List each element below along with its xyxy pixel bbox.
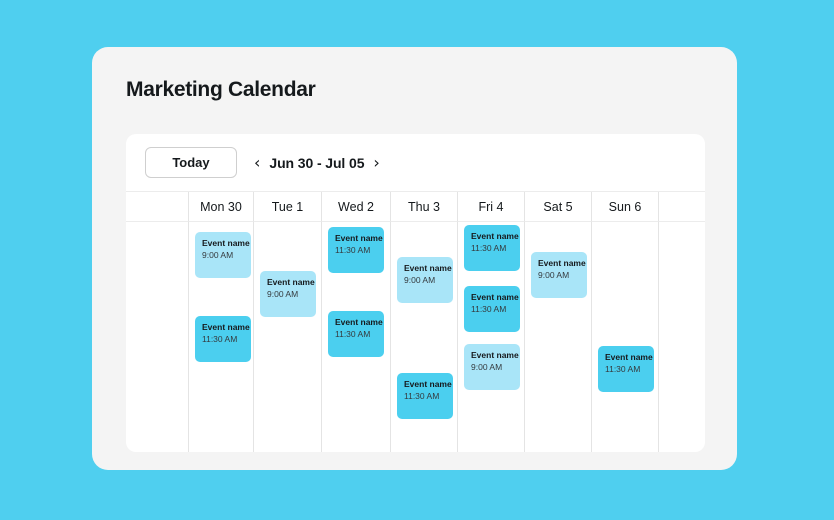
calendar-grid: Mon 30Tue 1Wed 2Thu 3Fri 4Sat 5Sun 6Even… [126,191,705,452]
event-chip[interactable]: Event name11:30 AM [598,346,654,392]
day-column-sun-6[interactable]: Event name11:30 AM [592,222,659,452]
event-title: Event name [538,258,581,269]
event-title: Event name [404,263,447,274]
event-title: Event name [335,233,378,244]
event-time: 11:30 AM [605,363,648,375]
day-header-fri-4[interactable]: Fri 4 [458,192,525,222]
event-chip[interactable]: Event name9:00 AM [464,344,520,390]
event-chip[interactable]: Event name11:30 AM [328,227,384,273]
day-header-sat-5[interactable]: Sat 5 [525,192,592,222]
day-header-sun-6[interactable]: Sun 6 [592,192,659,222]
event-title: Event name [471,350,514,361]
event-time: 11:30 AM [202,333,245,345]
event-title: Event name [605,352,648,363]
day-column-mon-30[interactable]: Event name9:00 AMEvent name11:30 AM [189,222,254,452]
event-time: 9:00 AM [471,361,514,373]
event-time: 9:00 AM [538,269,581,281]
event-chip[interactable]: Event name11:30 AM [464,225,520,271]
day-header-spacer-leading [126,192,189,222]
day-header-wed-2[interactable]: Wed 2 [322,192,391,222]
event-chip[interactable]: Event name11:30 AM [464,286,520,332]
day-header-mon-30[interactable]: Mon 30 [189,192,254,222]
day-column-spacer-leading [126,222,189,452]
day-column-thu-3[interactable]: Event name9:00 AMEvent name11:30 AM [391,222,458,452]
today-button[interactable]: Today [145,147,237,178]
event-chip[interactable]: Event name9:00 AM [397,257,453,303]
day-column-wed-2[interactable]: Event name11:30 AMEvent name11:30 AM [322,222,391,452]
event-chip[interactable]: Event name9:00 AM [531,252,587,298]
event-time: 9:00 AM [202,249,245,261]
event-title: Event name [404,379,447,390]
event-chip[interactable]: Event name11:30 AM [328,311,384,357]
event-time: 11:30 AM [335,244,378,256]
calendar-card: Today ‹ Jun 30 - Jul 05 › Mon 30Tue 1Wed… [126,134,705,452]
outer-card: Marketing Calendar Today ‹ Jun 30 - Jul … [92,47,737,470]
event-title: Event name [202,322,245,333]
event-chip[interactable]: Event name9:00 AM [195,232,251,278]
event-title: Event name [267,277,310,288]
event-title: Event name [202,238,245,249]
day-header-spacer-trailing [659,192,705,222]
day-column-sat-5[interactable]: Event name9:00 AM [525,222,592,452]
date-range-label: Jun 30 - Jul 05 [269,155,364,171]
event-chip[interactable]: Event name9:00 AM [260,271,316,317]
event-time: 11:30 AM [404,390,447,402]
chevron-right-icon[interactable]: › [373,155,379,171]
event-title: Event name [335,317,378,328]
day-column-fri-4[interactable]: Event name11:30 AMEvent name11:30 AMEven… [458,222,525,452]
day-header-tue-1[interactable]: Tue 1 [254,192,322,222]
day-header-thu-3[interactable]: Thu 3 [391,192,458,222]
day-column-tue-1[interactable]: Event name9:00 AM [254,222,322,452]
chevron-left-icon[interactable]: ‹ [254,155,260,171]
event-chip[interactable]: Event name11:30 AM [195,316,251,362]
day-column-spacer-trailing [659,222,705,452]
event-time: 11:30 AM [471,303,514,315]
event-title: Event name [471,231,514,242]
calendar-toolbar: Today ‹ Jun 30 - Jul 05 › [126,134,705,191]
page-title: Marketing Calendar [126,78,316,102]
date-navigation: ‹ Jun 30 - Jul 05 › [254,155,380,171]
event-time: 11:30 AM [335,328,378,340]
event-time: 9:00 AM [267,288,310,300]
event-time: 11:30 AM [471,242,514,254]
event-chip[interactable]: Event name11:30 AM [397,373,453,419]
event-time: 9:00 AM [404,274,447,286]
event-title: Event name [471,292,514,303]
